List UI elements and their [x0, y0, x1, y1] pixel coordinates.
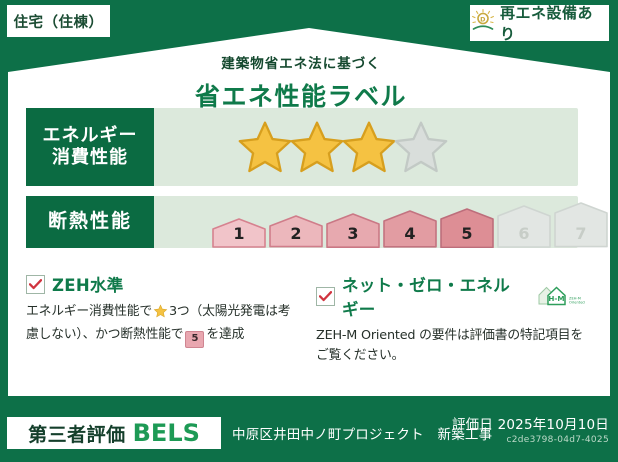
insulation-level-number: 3: [326, 224, 380, 243]
net-zero-energy-note: ネット・ゼロ・エネルギー H-M ZEH-M Oriented ZEH-M Or…: [316, 272, 588, 366]
evaluation-info: 評価日 2025年10月10日 c2de3798-04d7-4025: [452, 413, 609, 445]
zeh-m-oriented-logo: H-M ZEH-M Oriented: [536, 283, 588, 309]
insulation-level-2: 2: [269, 215, 323, 248]
energy-performance-row: エネルギー 消費性能: [26, 108, 578, 186]
insulation-level-number: 7: [554, 224, 608, 243]
evaluation-id: c2de3798-04d7-4025: [452, 435, 609, 445]
zeh-standard-text: エネルギー消費性能で3つ（太陽光発電は考慮しない）、かつ断熱性能で5を達成: [26, 302, 298, 348]
bels-certification-chip: 第三者評価 BELS: [7, 417, 221, 449]
star-filled-icon: [288, 119, 346, 175]
svg-text:H-M: H-M: [548, 294, 564, 303]
insulation-level-1: 1: [212, 218, 266, 248]
insulation-label-text: 断熱性能: [48, 210, 132, 234]
insulation-performance-row: 断熱性能 1234567: [26, 196, 578, 248]
star-rating: [154, 119, 444, 175]
insulation-performance-label: 断熱性能: [26, 196, 154, 248]
bels-jp-label: 第三者評価: [28, 420, 126, 447]
bels-logo-text: BELS: [133, 419, 200, 447]
star-filled-icon: [340, 119, 398, 175]
building-type-label: 住宅（住棟）: [14, 11, 104, 32]
building-type-chip: 住宅（住棟）: [7, 5, 110, 37]
zeh-text-part1: エネルギー消費性能で: [26, 304, 152, 319]
zeh-standard-title: ZEH水準: [52, 272, 124, 296]
insulation-level-number: 1: [212, 224, 266, 243]
zeh-text-part2: を達成: [206, 327, 244, 342]
check-icon: [316, 287, 335, 306]
insulation-level-number: 6: [497, 224, 551, 243]
insulation-level-7: 7: [554, 202, 608, 248]
svg-text:D: D: [480, 15, 486, 23]
evaluation-date: 評価日 2025年10月10日: [452, 413, 609, 433]
insulation-level-5: 5: [440, 208, 494, 248]
net-zero-energy-heading: ネット・ゼロ・エネルギー H-M ZEH-M Oriented: [316, 272, 588, 320]
energy-label-line1: エネルギー: [43, 125, 138, 148]
energy-label-line2: 消費性能: [52, 147, 128, 170]
insulation-level-3: 3: [326, 213, 380, 248]
insulation-level-number: 4: [383, 224, 437, 243]
zeh-standard-heading: ZEH水準: [26, 272, 298, 296]
star-empty-icon: [392, 119, 450, 175]
insulation-performance-body: 1234567: [154, 196, 608, 248]
insulation-badge-5: 5: [185, 331, 204, 348]
svg-text:Oriented: Oriented: [569, 301, 585, 305]
insulation-level-number: 2: [269, 224, 323, 243]
net-zero-energy-text: ZEH-M Oriented の要件は評価書の特記項目をご覧ください。: [316, 326, 588, 366]
sun-icon: D: [470, 8, 496, 38]
energy-performance-label: エネルギー 消費性能: [26, 108, 154, 186]
footer-bar: 第三者評価 BELS 中原区井田中ノ町プロジェクト 新築工事 評価日 2025年…: [0, 404, 618, 462]
insulation-level-6: 6: [497, 205, 551, 248]
inline-star-icon: [153, 307, 168, 322]
energy-performance-body: [154, 108, 578, 186]
check-icon: [26, 275, 45, 294]
star-filled-icon: [236, 119, 294, 175]
insulation-level-number: 5: [440, 224, 494, 243]
net-zero-energy-title: ネット・ゼロ・エネルギー: [342, 272, 525, 320]
card-subtitle: 建築物省エネ法に基づく: [0, 52, 602, 72]
insulation-level-scale: 1234567: [154, 196, 608, 248]
renewable-energy-label: 再エネ設備あり: [500, 2, 609, 44]
renewable-energy-badge: D 再エネ設備あり: [470, 5, 609, 41]
zeh-standard-note: ZEH水準 エネルギー消費性能で3つ（太陽光発電は考慮しない）、かつ断熱性能で5…: [26, 272, 298, 348]
insulation-level-4: 4: [383, 210, 437, 248]
card-title-block: 建築物省エネ法に基づく 省エネ性能ラベル: [0, 52, 602, 113]
